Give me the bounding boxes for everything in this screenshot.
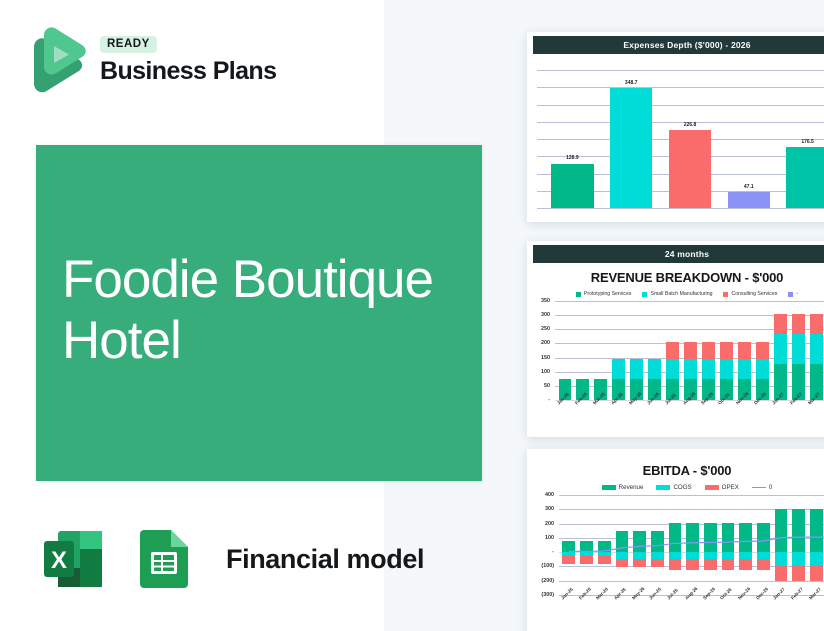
bar-slot: 47.1 [719, 70, 778, 208]
stack-segment [775, 509, 788, 553]
stack-segment [612, 359, 625, 379]
stack-segment [684, 342, 697, 359]
bar [669, 130, 711, 208]
stack-segment [739, 552, 752, 559]
bar-slot [753, 301, 771, 400]
chart-card-ebitda[interactable]: EBITDA - $'000 RevenueCOGSOPEX0 40030020… [527, 449, 824, 631]
bar-slot [702, 495, 720, 595]
legend-label: Revenue [619, 484, 644, 491]
stack-segment [633, 531, 646, 552]
x-axis-ebitda: Jan-26Feb-26Mar-26Apr-26May-26Jun-26Jul-… [560, 595, 824, 621]
stack-segment [686, 552, 699, 559]
bar-slot [772, 495, 790, 595]
stack-segment [704, 559, 717, 570]
legend-swatch [788, 292, 793, 297]
bar-slot [789, 301, 807, 400]
stack-segment [720, 342, 733, 359]
y-tick-label: 100 [545, 535, 554, 541]
bar-slot [717, 301, 735, 400]
chart-title-ebitda: EBITDA - $'000 [527, 449, 824, 480]
legend-label: 0 [769, 484, 772, 491]
y-tick-label: - [552, 549, 554, 555]
stack-segment [598, 556, 611, 564]
stack-segment [648, 359, 661, 379]
legend-item: Prototyping Services [576, 291, 632, 297]
bar-slot: 226.8 [661, 70, 720, 208]
stack-segment [704, 523, 717, 552]
chart-legend-revenue: Prototyping ServicesSmall Batch Manufact… [527, 287, 824, 299]
bar-slot [700, 301, 718, 400]
stack-column [598, 495, 611, 595]
bar-slot [790, 495, 808, 595]
legend-swatch [656, 485, 670, 490]
bar-series [560, 495, 824, 595]
stack-column [810, 495, 823, 595]
y-tick-label: 250 [541, 326, 550, 332]
x-axis-revenue: Jan-26Feb-26Mar-26Apr-26May-26Jun-26Jul-… [556, 400, 824, 424]
legend-item: Small Batch Manufacturing [642, 291, 712, 297]
stack-segment [598, 541, 611, 552]
bar-slot [771, 301, 789, 400]
stack-column [810, 301, 823, 400]
stack-segment [686, 523, 699, 552]
stack-segment [738, 342, 751, 359]
stack-column [775, 495, 788, 595]
gridline [537, 208, 824, 209]
footer-caption: Financial model [226, 544, 424, 575]
y-tick-label: (100) [541, 563, 554, 569]
bar-slot [628, 301, 646, 400]
bar-series: 128.9348.7226.847.1176.5 [543, 70, 824, 208]
bar-slot [595, 495, 613, 595]
y-axis-ebitda: 400300200100-(100)(200)(300) [527, 495, 557, 595]
bar-slot [610, 301, 628, 400]
bar-slot [613, 495, 631, 595]
stack-column [704, 495, 717, 595]
stack-column [580, 495, 593, 595]
stack-column [739, 495, 752, 595]
bar-slot [684, 495, 702, 595]
legend-item: - [788, 291, 798, 297]
bar [728, 192, 770, 208]
bar-slot [592, 301, 610, 400]
stack-segment [702, 342, 715, 359]
brand-text-block: READY Business Plans [100, 36, 276, 85]
stack-segment [810, 566, 823, 580]
y-tick-label: 50 [544, 383, 550, 389]
bar-value-label: 348.7 [625, 80, 638, 86]
bar-slot [735, 301, 753, 400]
stack-column [720, 301, 733, 400]
legend-item: Revenue [602, 484, 644, 491]
stack-segment [616, 552, 629, 559]
chart-title-revenue: REVENUE BREAKDOWN - $'000 [527, 263, 824, 287]
bar-value-label: 47.1 [744, 184, 754, 190]
stack-segment [666, 359, 679, 379]
chart-card-expenses[interactable]: Expenses Depth ($'000) - 2026 128.9348.7… [527, 32, 824, 222]
footer-block: X Financial model [36, 521, 424, 597]
stack-segment [633, 559, 646, 567]
stack-segment [775, 566, 788, 580]
stack-segment [810, 552, 823, 566]
stack-segment [775, 552, 788, 566]
stack-segment [774, 314, 787, 334]
stack-segment [651, 531, 664, 552]
y-tick-label: 350 [541, 298, 550, 304]
bar-value-label: 176.5 [801, 139, 814, 145]
stack-segment [792, 566, 805, 580]
stack-column [616, 495, 629, 595]
stack-column [792, 301, 805, 400]
chart-plot-expenses: 128.9348.7226.847.1176.5 [527, 60, 824, 220]
bar-slot [560, 495, 578, 595]
stack-segment [810, 314, 823, 334]
stack-segment [651, 552, 664, 559]
legend-item: Consulting Services [723, 291, 777, 297]
stack-segment [580, 556, 593, 564]
legend-swatch [576, 292, 581, 297]
bar-slot [719, 495, 737, 595]
stack-segment [757, 523, 770, 552]
legend-label: COGS [673, 484, 691, 491]
stack-segment [756, 342, 769, 359]
stack-column [651, 495, 664, 595]
google-sheets-file-icon[interactable] [126, 521, 202, 597]
legend-swatch [723, 292, 728, 297]
stack-column [774, 301, 787, 400]
stack-segment [616, 531, 629, 552]
stack-segment [792, 552, 805, 566]
stack-segment [792, 314, 805, 334]
stack-segment [580, 541, 593, 552]
stack-column [722, 495, 735, 595]
bar-slot [631, 495, 649, 595]
stack-column [612, 301, 625, 400]
bar-slot [737, 495, 755, 595]
stack-segment [757, 559, 770, 570]
stack-segment [669, 552, 682, 559]
stack-segment [651, 559, 664, 567]
stack-segment [738, 359, 751, 379]
bar-value-label: 226.8 [684, 122, 697, 128]
stack-segment [722, 552, 735, 559]
stack-segment [739, 559, 752, 570]
bar [786, 147, 824, 208]
stack-segment [757, 552, 770, 559]
stack-segment [669, 559, 682, 570]
stack-segment [756, 359, 769, 379]
play-logo-icon [28, 27, 86, 93]
stack-column [559, 301, 572, 400]
chart-band-expenses: Expenses Depth ($'000) - 2026 [533, 36, 824, 54]
excel-file-icon[interactable]: X [36, 521, 112, 597]
stack-segment [686, 559, 699, 570]
stack-segment [810, 334, 823, 364]
stack-column [686, 495, 699, 595]
chart-plot-ebitda: 400300200100-(100)(200)(300) Jan-26Feb-2… [527, 493, 824, 621]
stack-column [756, 301, 769, 400]
bar-slot [666, 495, 684, 595]
stack-column [738, 301, 751, 400]
chart-card-revenue[interactable]: 24 months REVENUE BREAKDOWN - $'000 Prot… [527, 241, 824, 437]
y-tick-label: 100 [541, 369, 550, 375]
bar-slot: 128.9 [543, 70, 602, 208]
slide-canvas: READY Business Plans Foodie Boutique Hot… [0, 0, 824, 631]
bar-slot [807, 301, 824, 400]
legend-label: Small Batch Manufacturing [650, 291, 712, 297]
stack-segment [666, 342, 679, 359]
stack-segment [684, 359, 697, 379]
bar-slot [646, 301, 664, 400]
svg-text:X: X [51, 547, 67, 574]
y-axis-revenue: 35030025020015010050- [527, 301, 553, 400]
stack-column [757, 495, 770, 595]
stack-segment [704, 552, 717, 559]
legend-label: OPEX [722, 484, 739, 491]
legend-swatch [602, 485, 616, 490]
bar-slot [664, 301, 682, 400]
chart-plot-revenue: 35030025020015010050- Jan-26Feb-26Mar-26… [527, 299, 824, 424]
chart-band-revenue: 24 months [533, 245, 824, 263]
stack-segment [562, 541, 575, 552]
brand-logo-block[interactable]: READY Business Plans [28, 27, 276, 93]
stack-column [633, 495, 646, 595]
stack-column [594, 301, 607, 400]
stack-segment [616, 559, 629, 567]
stack-column [576, 301, 589, 400]
stack-segment [633, 552, 646, 559]
stack-segment [720, 359, 733, 379]
bar-slot [648, 495, 666, 595]
bar [551, 164, 593, 208]
bar [610, 88, 652, 208]
stack-column [562, 495, 575, 595]
y-tick-label: - [548, 397, 550, 403]
stack-column [630, 301, 643, 400]
stack-segment [562, 556, 575, 564]
hero-panel: Foodie Boutique Hotel [36, 145, 482, 481]
bar-value-label: 128.9 [566, 155, 579, 161]
bar-slot: 176.5 [778, 70, 824, 208]
legend-item: COGS [656, 484, 691, 491]
bar-slot [578, 495, 596, 595]
chart-legend-ebitda: RevenueCOGSOPEX0 [527, 480, 824, 493]
ready-badge: READY [100, 36, 157, 54]
stack-segment [722, 559, 735, 570]
bar-slot [682, 301, 700, 400]
legend-line-swatch [752, 487, 766, 488]
y-tick-label: 200 [545, 521, 554, 527]
stack-segment [669, 523, 682, 552]
y-tick-label: (200) [541, 578, 554, 584]
stack-column [666, 301, 679, 400]
legend-label: - [796, 291, 798, 297]
y-tick-label: 300 [541, 312, 550, 318]
stack-segment [630, 359, 643, 379]
stack-column [648, 301, 661, 400]
legend-swatch [705, 485, 719, 490]
legend-label: Prototyping Services [584, 291, 632, 297]
page-title: Foodie Boutique Hotel [62, 249, 482, 372]
legend-swatch [642, 292, 647, 297]
bar-slot [574, 301, 592, 400]
stack-column [702, 301, 715, 400]
legend-item: OPEX [705, 484, 739, 491]
bar-slot: 348.7 [602, 70, 661, 208]
y-tick-label: 150 [541, 355, 550, 361]
y-tick-label: 400 [545, 492, 554, 498]
y-tick-label: 300 [545, 506, 554, 512]
bar-slot [808, 495, 824, 595]
stack-segment [722, 523, 735, 552]
stack-segment [774, 334, 787, 364]
stack-segment [739, 523, 752, 552]
stack-segment [702, 359, 715, 379]
bar-series [556, 301, 824, 400]
y-tick-label: (300) [541, 592, 554, 598]
bar-slot [755, 495, 773, 595]
stack-segment [792, 334, 805, 364]
legend-label: Consulting Services [731, 291, 777, 297]
legend-item: 0 [752, 484, 772, 491]
y-tick-label: 200 [541, 340, 550, 346]
stack-column [684, 301, 697, 400]
bar-slot [556, 301, 574, 400]
stack-column [792, 495, 805, 595]
stack-segment [792, 509, 805, 553]
stack-column [669, 495, 682, 595]
brand-name: Business Plans [100, 58, 276, 84]
stack-segment [810, 509, 823, 553]
